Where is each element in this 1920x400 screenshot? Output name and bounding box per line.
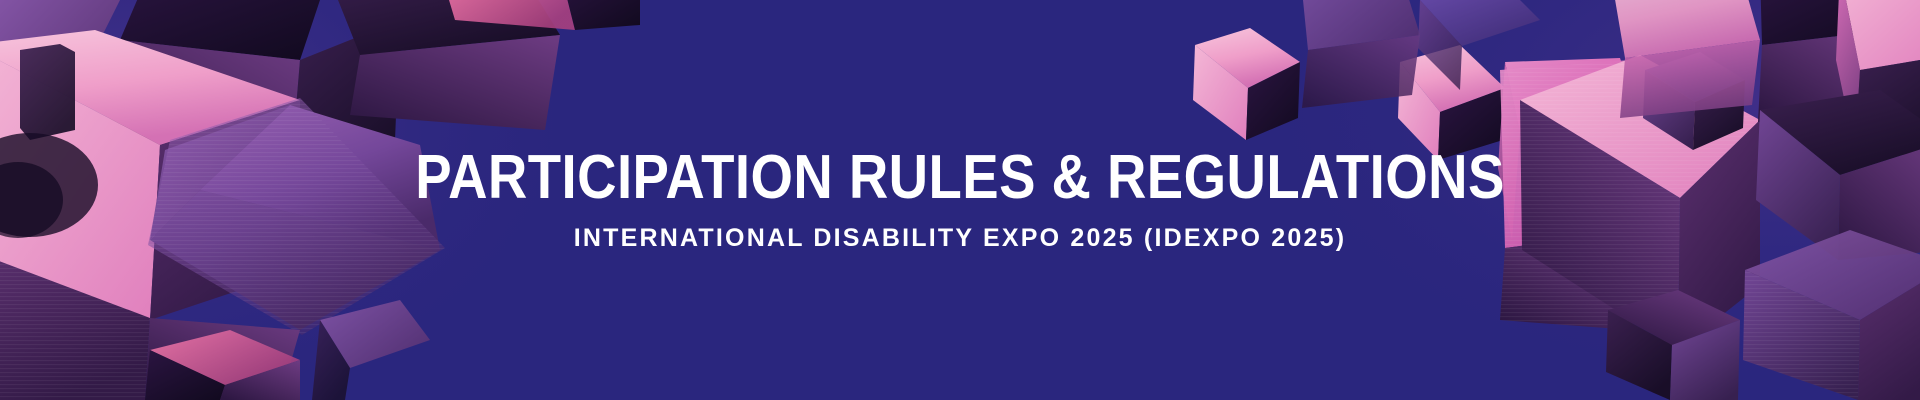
- page-banner: PARTICIPATION RULES & REGULATIONS INTERN…: [0, 0, 1920, 400]
- cube-decoration-background: [0, 0, 1920, 400]
